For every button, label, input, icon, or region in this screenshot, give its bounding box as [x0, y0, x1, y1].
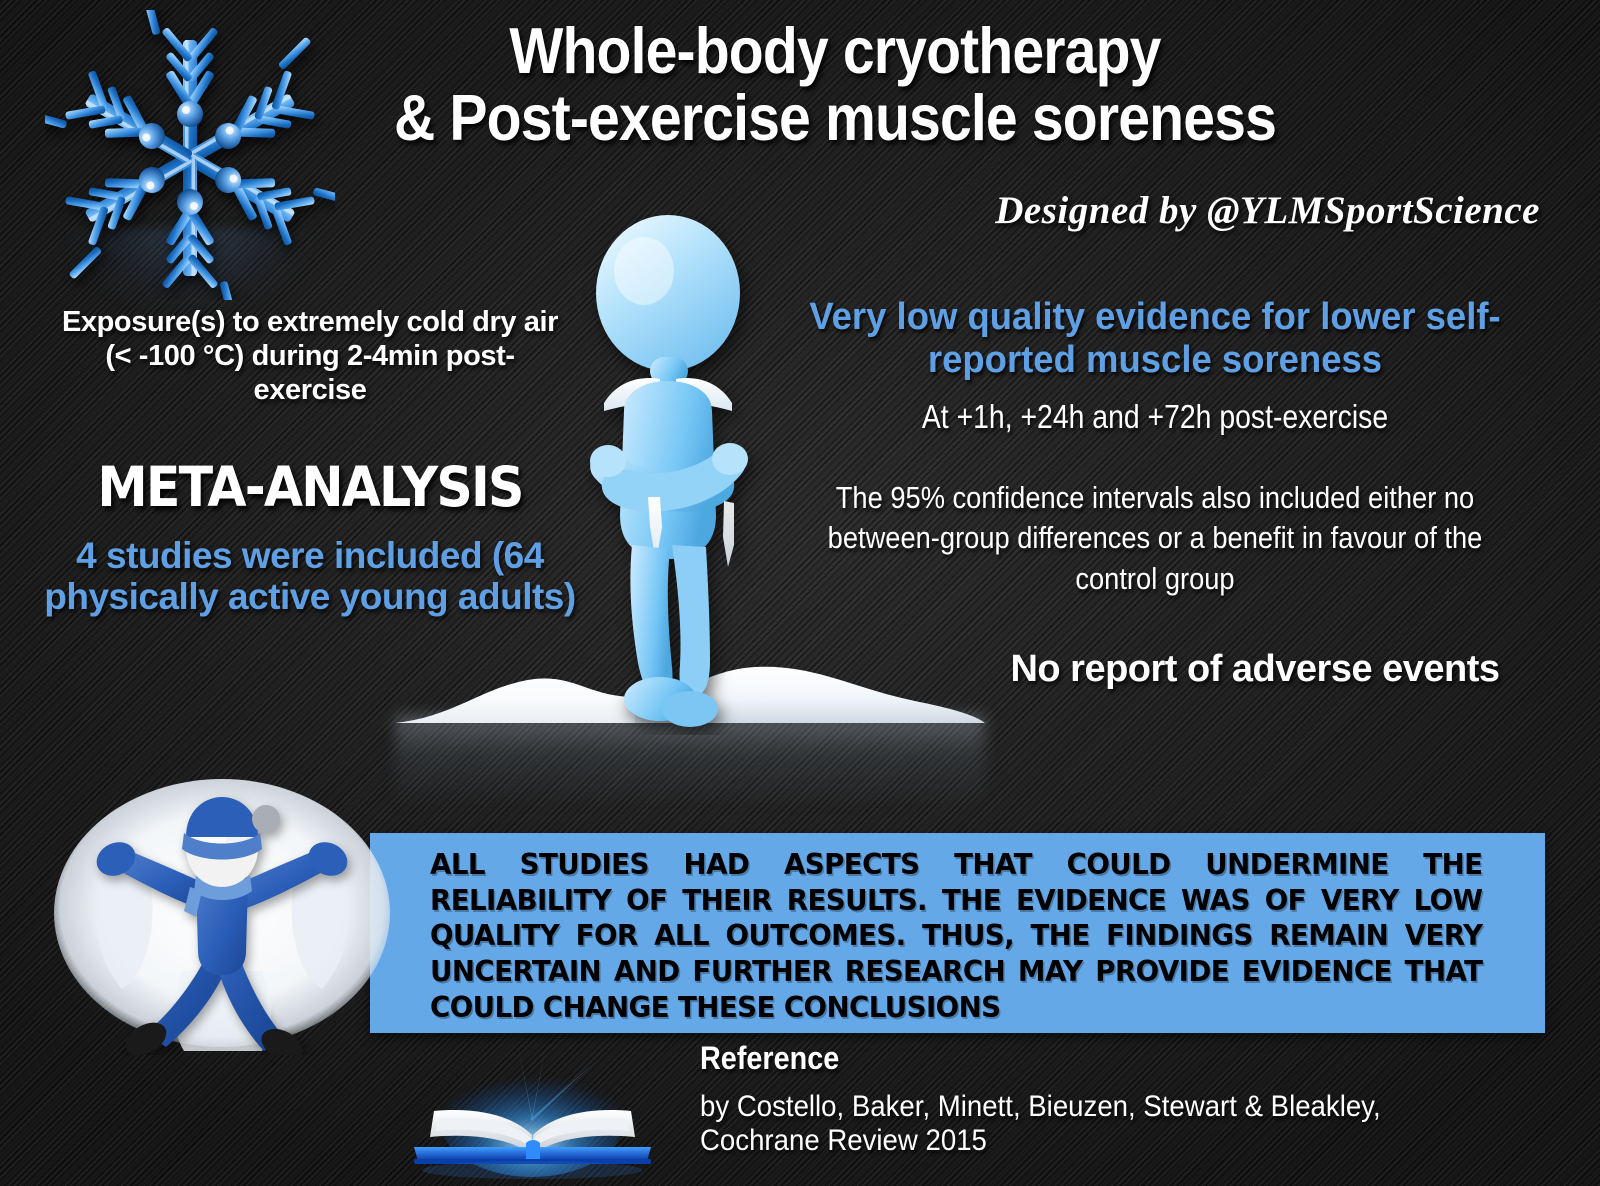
- shivering-figure-icon: [520, 215, 820, 735]
- adverse-events-text: No report of adverse events: [960, 648, 1550, 691]
- snowflake-icon: [45, 10, 335, 300]
- reference-heading: Reference: [700, 1040, 839, 1077]
- reference-citation: by Costello, Baker, Minett, Bieuzen, Ste…: [700, 1090, 1491, 1158]
- timepoints-text: At +1h, +24h and +72h post-exercise: [815, 398, 1494, 436]
- evidence-heading: Very low quality evidence for lower self…: [776, 296, 1534, 381]
- page-title: Whole-body cryotherapy & Post-exercise m…: [364, 18, 1306, 152]
- designed-by-credit: Designed by @YLMSportScience: [880, 188, 1540, 233]
- exposure-description: Exposure(s) to extremely cold dry air (<…: [50, 305, 570, 408]
- meta-analysis-heading: Meta-analysis: [71, 455, 549, 519]
- snow-angel-icon: [50, 775, 400, 1055]
- title-line-2: & Post-exercise muscle soreness: [364, 85, 1306, 152]
- conclusion-text: All studies had aspects that could under…: [430, 847, 1482, 1025]
- studies-included-text: 4 studies were included (64 physically a…: [40, 535, 580, 618]
- confidence-intervals-text: The 95% confidence intervals also includ…: [812, 478, 1498, 599]
- title-line-1: Whole-body cryotherapy: [364, 18, 1306, 85]
- conclusion-banner: All studies had aspects that could under…: [370, 833, 1545, 1033]
- open-book-icon: [400, 1035, 665, 1180]
